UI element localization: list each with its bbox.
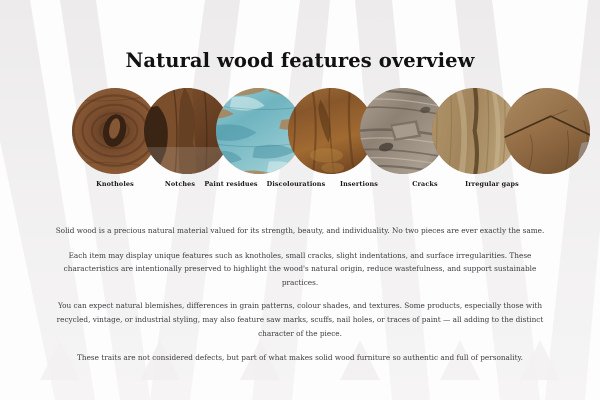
feature-labels-row: Knotholes Notches Paint residues Discolo… xyxy=(0,180,600,194)
feature-circle-irregular-gaps[interactable] xyxy=(504,88,590,174)
feature-label-notches: Notches xyxy=(165,180,195,188)
body-copy: Solid wood is a precious natural materia… xyxy=(46,224,554,365)
feature-circle-strip xyxy=(0,88,600,174)
feature-label-paint-residues: Paint residues xyxy=(204,180,257,188)
feature-label-insertions: Insertions xyxy=(340,180,378,188)
page-title: Natural wood features overview xyxy=(0,49,600,72)
feature-label-discolourations: Discolourations xyxy=(267,180,326,188)
wood-irregular-gap-photo xyxy=(504,88,590,174)
paragraph-conclusion: These traits are not considered defects,… xyxy=(46,351,554,365)
paragraph-intro: Solid wood is a precious natural materia… xyxy=(46,224,554,238)
feature-label-cracks: Cracks xyxy=(412,180,437,188)
feature-label-irregular-gaps: Irregular gaps xyxy=(465,180,519,188)
feature-label-knotholes: Knotholes xyxy=(96,180,134,188)
paragraph-features: Each item may display unique features su… xyxy=(46,249,554,290)
paragraph-expectations: You can expect natural blemishes, differ… xyxy=(46,299,554,340)
document-page: Natural wood features overview xyxy=(0,0,600,400)
